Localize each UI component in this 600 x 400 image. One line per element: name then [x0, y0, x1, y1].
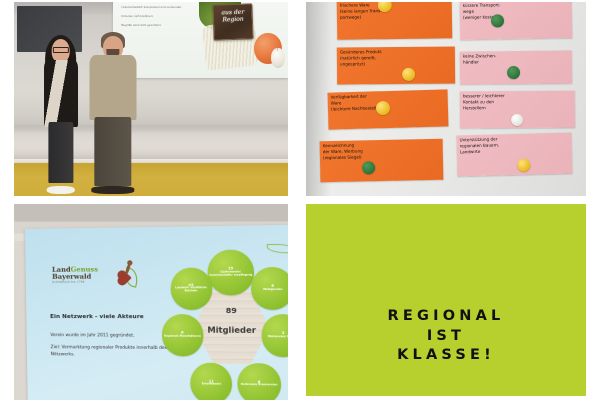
garlic-icon — [271, 48, 286, 68]
member-bubble-wheel: 89 Mitglieder 15 Gastronomie/ Gemeinscha… — [166, 248, 288, 400]
slide-bullet-3: Begriffe sind nicht geschützt. — [121, 23, 212, 28]
logo-tagline: Solidarisch bis 1766 — [52, 281, 98, 284]
person-man — [83, 29, 143, 192]
slogan-line-klasse: KLASSE! — [388, 346, 505, 365]
card-besserer-kontakt: besserer / leichterer Kontakt zu den Her… — [460, 91, 575, 129]
pin-magnet — [511, 114, 523, 126]
bubble-label: Regionale Manufakturen — [164, 336, 201, 339]
bubble-metzgereien: 6 Metzgereien — [251, 268, 288, 310]
slogan-text-block: REGIONAL IST KLASSE! — [388, 307, 505, 396]
bubble-label: Metzgereien — [263, 289, 282, 292]
legs — [48, 122, 73, 182]
bubble-label: Gastronomie/ Gemeinschafts- verpflegung — [209, 272, 253, 278]
panel-presenters-photo: aus der Region Unterschiedlich interpret… — [0, 0, 300, 200]
slogan-line-ist: IST — [388, 327, 505, 346]
card-gesuenderes-produkt: Gesünderes Produkt (natürlich gereift, u… — [337, 46, 455, 84]
member-count-number: 89 — [193, 307, 269, 316]
projected-slide: LandGenuss Bayerwald Solidarisch bis 176… — [25, 225, 288, 400]
shoes — [46, 186, 74, 194]
card-kuerzere-transportwege: kürzere Transport- wege (weniger Kosten) — [460, 2, 573, 40]
photo-frame: aus der Region Unterschiedlich interpret… — [14, 2, 288, 196]
card-line: händler — [463, 58, 569, 65]
photo-collage: aus der Region Unterschiedlich interpret… — [0, 0, 600, 400]
pin-magnet — [507, 65, 520, 78]
card-frischere-ware: frischere Ware (keine langen Trans- port… — [337, 2, 452, 40]
torso — [89, 55, 136, 120]
bubble-landwirtschaft: 43 Landwirt- schaftliche Betriebe — [170, 268, 212, 310]
pin-magnet — [401, 67, 414, 80]
pin-magnet — [362, 161, 375, 174]
card-keine-zwischenhaendler: keine Zwischen- händler — [460, 50, 572, 84]
card-line: (weniger Kosten) — [463, 13, 569, 21]
slogan-background: REGIONAL IST KLASSE! — [306, 204, 586, 396]
chalkboard-sign: aus der Region — [213, 3, 255, 41]
shoes — [91, 186, 134, 194]
logo-heart-leaf-icon — [117, 264, 135, 289]
slide-bullet-2: Kriterien nicht definiert. — [121, 14, 212, 19]
slide-body-line-2: Ziel: Vermarktung regionaler Produkte in… — [51, 344, 182, 359]
chalk-caption-line2: Region — [214, 15, 253, 23]
card-line: portwege) — [340, 13, 449, 20]
bubble-label: Landwirt- schaftliche Betriebe — [171, 288, 211, 294]
torso — [44, 60, 78, 127]
card-line: Herstellern — [463, 105, 572, 111]
whiteboard: frischere Ware (keine langen Trans- port… — [306, 2, 586, 196]
bubble-label: Bäckereien/ Mühlen — [268, 336, 288, 339]
pin-magnet — [491, 14, 504, 27]
room-background: LandGenuss Bayerwald Solidarisch bis 176… — [14, 204, 288, 400]
bubble-label: Einzelhandel — [202, 384, 221, 387]
bubble-baeckereien: 3 Bäckereien/ Mühlen — [261, 315, 288, 357]
landgenuss-logo: LandGenuss Bayerwald Solidarisch bis 176… — [52, 267, 98, 285]
logo-word-bayerwald: Bayerwald — [52, 274, 98, 281]
bubble-label: Kellereien/ Brennereien — [241, 385, 277, 388]
bubble-gastronomie: 15 Gastronomie/ Gemeinschafts- verpflegu… — [207, 250, 254, 295]
person-woman — [33, 33, 88, 192]
legs — [94, 117, 131, 185]
card-line: ungespritzt) — [340, 60, 452, 67]
card-verfuegbarkeit: Verfügbarkeit der Ware (leichtere Nachbe… — [328, 90, 449, 130]
pin-magnet — [376, 101, 390, 115]
slide-bullet-1: Unterschiedlich interpretiert und verwen… — [121, 5, 212, 10]
bubble-manufakturen: 6 Regionale Manufakturen — [161, 315, 203, 357]
bubble-einzelhandel: 11 Einzelhandel — [190, 363, 233, 400]
panel-network-slide-photo: LandGenuss Bayerwald Solidarisch bis 176… — [0, 200, 300, 400]
card-unterstuetzung-bauern: Unterstützung der regionalen Bauern, Lan… — [457, 132, 573, 176]
card-kennzeichnung: Kennzeichnung der Ware, Werbung (regiona… — [320, 138, 444, 181]
bubble-kellereien: 6 Kellereien/ Brennereien — [237, 363, 280, 400]
slogan-line-regional: REGIONAL — [388, 307, 505, 326]
slide-title: Ein Netzwerk - viele Akteure — [50, 314, 144, 320]
glasses-icon — [52, 47, 68, 54]
pin-magnet — [517, 159, 530, 172]
panel-moderation-cards-photo: frischere Ware (keine langen Trans- port… — [300, 0, 600, 200]
panel-slogan: REGIONAL IST KLASSE! — [300, 200, 600, 400]
